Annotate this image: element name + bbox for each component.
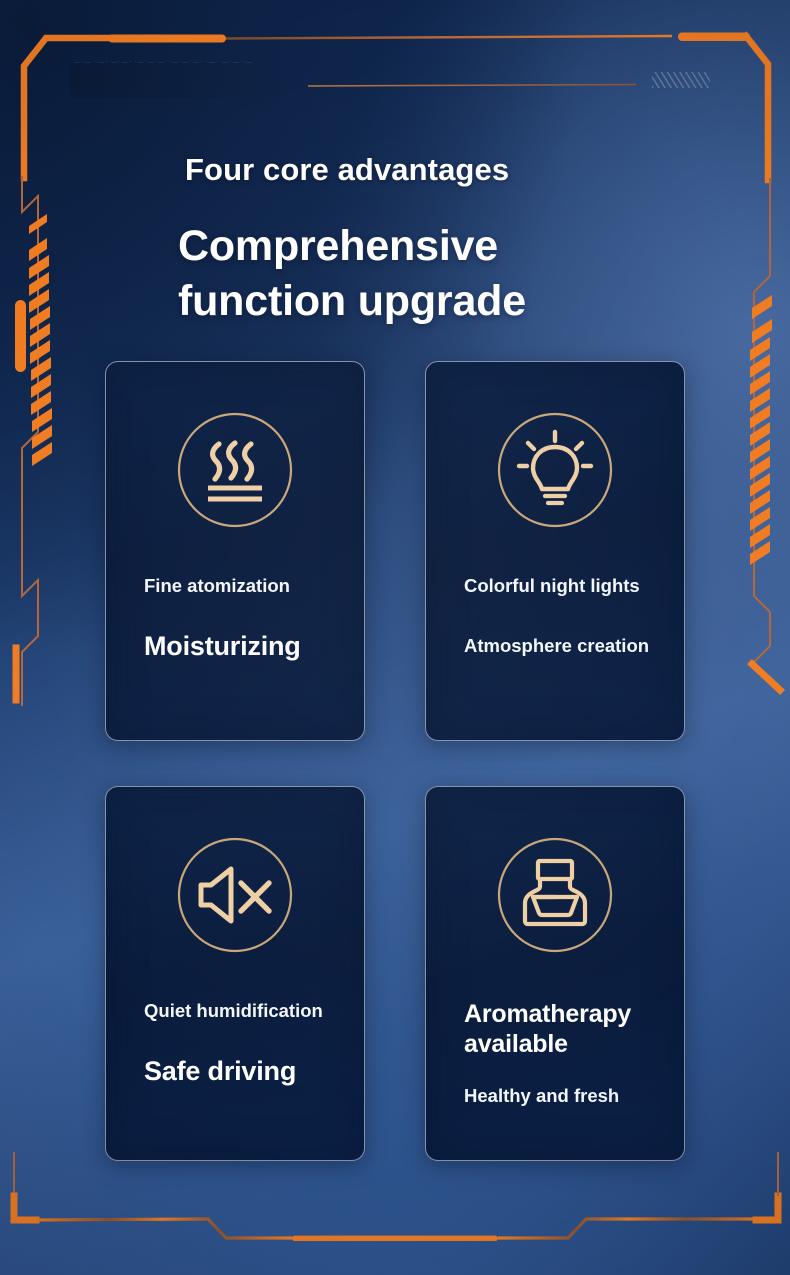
poster-canvas: —·— ·—· —·—· ·— —·— ·—·— —· ·—· —·— ·— F… (0, 0, 790, 1275)
card-row-top: Fine atomization Moisturizing (105, 361, 685, 741)
header-watermark-text: —·— ·—· —·—· ·— —·— ·—·— —· ·—· —·— ·— (74, 58, 289, 67)
card-1-label-big: Moisturizing (144, 630, 336, 662)
speaker-mute-icon (106, 835, 364, 955)
aroma-bottle-icon (426, 835, 684, 955)
card-4-text: Aromatherapy available Healthy and fresh (426, 999, 684, 1108)
frame-left-accent-bar (15, 300, 26, 372)
header-watermark-block (70, 62, 288, 98)
page-title-line-1: Comprehensive (178, 219, 526, 274)
frame-left-hatch-stripes (29, 214, 52, 466)
card-2-label-small: Colorful night lights (464, 574, 656, 598)
advantage-card-fine-atomization[interactable]: Fine atomization Moisturizing (105, 361, 365, 741)
advantage-card-aromatherapy[interactable]: Aromatherapy available Healthy and fresh (425, 786, 685, 1161)
card-4-label-big: Healthy and fresh (464, 1084, 656, 1108)
frame-right-circuit-line (752, 178, 770, 664)
card-4-label-small: Aromatherapy available (464, 999, 656, 1059)
page-title: Comprehensive function upgrade (178, 219, 526, 329)
card-1-text: Fine atomization Moisturizing (106, 574, 364, 662)
card-1-label-small: Fine atomization (144, 574, 336, 598)
card-3-label-small: Quiet humidification (144, 999, 336, 1023)
page-subtitle: Four core advantages (185, 152, 509, 188)
frame-right-hatch-stripes (750, 295, 772, 565)
card-3-label-big: Safe driving (144, 1055, 336, 1087)
advantage-card-colorful-night-lights[interactable]: Colorful night lights Atmosphere creatio… (425, 361, 685, 741)
frame-top-right-bracket (678, 33, 768, 181)
lightbulb-icon (426, 410, 684, 530)
page-title-line-2: function upgrade (178, 274, 526, 329)
header-rule (308, 85, 636, 87)
card-3-text: Quiet humidification Safe driving (106, 999, 364, 1087)
advantage-card-grid: Fine atomization Moisturizing (105, 361, 685, 1161)
card-2-label-big: Atmosphere creation (464, 634, 656, 658)
card-2-text: Colorful night lights Atmosphere creatio… (426, 574, 684, 658)
frame-top-thin-line (226, 36, 672, 39)
advantage-card-quiet-humidification[interactable]: Quiet humidification Safe driving (105, 786, 365, 1161)
card-row-bottom: Quiet humidification Safe driving A (105, 786, 685, 1161)
frame-right-bottom-stub (752, 664, 780, 690)
steam-mist-icon (106, 410, 364, 530)
frame-bottom-bracket (14, 1152, 778, 1241)
frame-left-circuit-line (22, 176, 38, 706)
header-hatch-marks (652, 72, 710, 88)
